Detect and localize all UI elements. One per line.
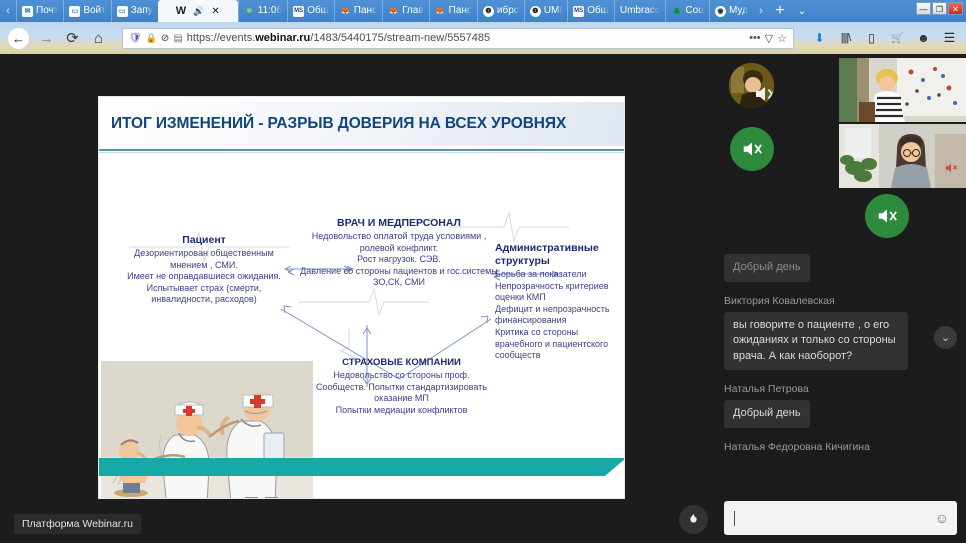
pocket-icon[interactable]: ▽ xyxy=(765,32,773,45)
lock-icon[interactable]: 🔒 xyxy=(146,33,157,44)
url-text: https://events.webinar.ru/1483/5440175/s… xyxy=(187,32,745,44)
page-actions-icon[interactable]: ••• xyxy=(749,32,761,44)
block-heading: Административные структуры xyxy=(495,242,625,267)
tab-ibrs[interactable]: ❶ ибрс xyxy=(477,0,524,22)
chat-message-1: Виктория Ковалевская вы говорите о пацие… xyxy=(715,295,966,384)
tree-icon: 🌲 xyxy=(671,6,682,17)
block-body: Борьба за показатели Непрозрачность крит… xyxy=(495,269,625,362)
tab-label: Umbraco xyxy=(620,0,661,22)
tab-zapusk[interactable]: ▭ Запу xyxy=(111,0,158,22)
video-icon: ▭ xyxy=(117,6,128,17)
firefox-icon: 🦊 xyxy=(435,6,446,17)
tab-mail[interactable]: ✉ Почт xyxy=(16,0,63,22)
slide-cartoon-image xyxy=(101,361,313,499)
tab-voyti[interactable]: ▭ Войт xyxy=(63,0,110,22)
tab-ms-1[interactable]: MS Общ xyxy=(287,0,334,22)
webinar-icon: W xyxy=(176,5,186,17)
back-button[interactable]: ← xyxy=(8,28,29,49)
slide-title-bar: ИТОГ ИЗМЕНЕНИЙ - РАЗРЫВ ДОВЕРИЯ НА ВСЕХ … xyxy=(99,102,625,146)
bookmark-star-icon[interactable]: ☆ xyxy=(777,32,787,45)
tab-umi[interactable]: ❶ UMI xyxy=(524,0,567,22)
block-heading: ВРАЧ И МЕДПЕРСОНАЛ xyxy=(299,217,499,229)
video-thumb-1[interactable] xyxy=(839,58,966,122)
chat-bubble: Добрый день xyxy=(724,254,810,282)
maximize-button[interactable]: ❐ xyxy=(932,2,947,15)
tab-label: Общ xyxy=(587,0,609,22)
chat-author: Наталья Петрова xyxy=(715,383,966,400)
slide-block-patient: Пациент Дезориентирован общественным мне… xyxy=(121,234,287,306)
smiley-icon[interactable]: ☺ xyxy=(935,510,949,526)
tab-label: ибрс xyxy=(497,0,519,22)
tab-label: Запу xyxy=(131,0,153,22)
browser-window: ‹ ✉ Почт ▭ Войт ▭ Запу W 🔊 ✕ ✾ 11:06 MS … xyxy=(0,0,966,543)
slide-block-insurance: СТРАХОВЫЕ КОМПАНИИ Недовольство со сторо… xyxy=(314,357,489,416)
chat-bubble: Добрый день xyxy=(724,400,810,428)
tab-pans-2[interactable]: 🦊 Панс xyxy=(429,0,477,22)
tab-label: Войт xyxy=(83,0,105,22)
tab-pans-1[interactable]: 🦊 Панс xyxy=(334,0,382,22)
tab-label: Муд xyxy=(729,0,748,22)
composer-author: Наталья Федоровна Кичигина xyxy=(715,441,966,456)
reload-button[interactable]: ⟳ xyxy=(64,29,81,47)
tab-label: UMI xyxy=(544,0,562,22)
mute-badge-2[interactable] xyxy=(865,194,909,238)
tab-webinar-active[interactable]: W 🔊 ✕ xyxy=(158,0,238,22)
block-heading: СТРАХОВЫЕ КОМПАНИИ xyxy=(314,357,489,368)
conference-rail: Добрый день Виктория Ковалевская вы гово… xyxy=(715,54,966,543)
tab-audio-icon[interactable]: 🔊 xyxy=(193,6,204,17)
chat-message-2: Наталья Петрова Добрый день xyxy=(715,383,966,441)
block-body: Недовольство оплатой труда условиями , р… xyxy=(299,231,499,289)
new-tab-button[interactable]: + xyxy=(769,0,791,22)
tab-label: Глав xyxy=(402,0,424,22)
list-all-tabs-button[interactable]: ⌄ xyxy=(791,0,813,22)
tab-label: Почт xyxy=(36,0,58,22)
tab-glav[interactable]: 🦊 Глав xyxy=(382,0,429,22)
ms-icon: MS xyxy=(293,6,304,17)
circle-icon: ❶ xyxy=(483,6,494,17)
webinar-page: ИТОГ ИЗМЕНЕНИЙ - РАЗРЫВ ДОВЕРИЯ НА ВСЕХ … xyxy=(0,54,966,543)
muted-speaker-icon xyxy=(751,80,774,108)
tab-mudl[interactable]: ◉ Муд xyxy=(709,0,753,22)
title-divider xyxy=(99,149,625,151)
close-icon[interactable]: ✕ xyxy=(211,6,219,17)
mail-icon: ✉ xyxy=(22,6,33,17)
ms-icon: MS xyxy=(573,6,584,17)
slide-block-admin: Административные структуры Борьба за пок… xyxy=(495,242,625,362)
scroll-tabs-right-button[interactable]: › xyxy=(753,0,769,22)
platform-watermark: Платформа Webinar.ru xyxy=(14,514,141,534)
block-heading: Пациент xyxy=(121,234,287,246)
tab-strip: ‹ ✉ Почт ▭ Войт ▭ Запу W 🔊 ✕ ✾ 11:06 MS … xyxy=(0,0,966,22)
window-controls: — ❐ ✕ xyxy=(916,0,966,22)
cart-icon[interactable]: 🛒 xyxy=(889,33,906,44)
url-prefix: https://events. xyxy=(187,32,255,44)
chat-message-0: Добрый день xyxy=(715,254,966,295)
menu-icon[interactable]: ☰ xyxy=(941,30,958,46)
video-icon: ▭ xyxy=(69,6,80,17)
mute-badge-1[interactable] xyxy=(730,127,774,171)
chat-input-container[interactable]: ☺ xyxy=(724,501,957,535)
url-domain: webinar.ru xyxy=(255,32,310,44)
tab-label: Соц xyxy=(685,0,704,22)
flame-icon[interactable] xyxy=(679,505,708,534)
chevron-down-icon[interactable]: ⌄ xyxy=(934,326,957,349)
sidebar-icon[interactable]: ▯ xyxy=(863,31,880,45)
presentation-slide[interactable]: ИТОГ ИЗМЕНЕНИЙ - РАЗРЫВ ДОВЕРИЯ НА ВСЕХ … xyxy=(98,96,625,499)
clover-icon: ✾ xyxy=(244,6,255,17)
firefox-icon: 🦊 xyxy=(388,6,399,17)
slide-title: ИТОГ ИЗМЕНЕНИЙ - РАЗРЫВ ДОВЕРИЯ НА ВСЕХ … xyxy=(99,115,566,133)
slide-bottom-accent xyxy=(99,458,625,476)
firefox-icon: 🦊 xyxy=(340,6,351,17)
tab-ms-2[interactable]: MS Общ xyxy=(567,0,614,22)
moodle-icon: ◉ xyxy=(715,6,726,17)
address-bar[interactable]: 🛡 🔒 ⊘ ▤ https://events.webinar.ru/1483/5… xyxy=(122,28,794,49)
navigation-toolbar: ← → ⟳ ⌂ 🛡 🔒 ⊘ ▤ https://events.webinar.r… xyxy=(0,22,966,54)
tab-label: Панс xyxy=(449,0,472,22)
library-icon[interactable]: ||||\ xyxy=(837,32,854,44)
circle-icon: ❶ xyxy=(530,6,541,17)
minimize-button[interactable]: — xyxy=(916,2,931,15)
chat-author: Виктория Ковалевская xyxy=(715,295,966,312)
reader-mode-icon[interactable]: ▤ xyxy=(173,33,182,44)
chat-panel: Добрый день Виктория Ковалевская вы гово… xyxy=(715,254,966,543)
block-body: Дезориентирован общественным мнением , С… xyxy=(121,248,287,306)
close-window-button[interactable]: ✕ xyxy=(948,2,963,15)
avatar[interactable] xyxy=(729,63,774,108)
home-icon[interactable]: ⌂ xyxy=(90,30,107,47)
block-body: Недовольство со стороны проф. Сообществ.… xyxy=(314,370,489,416)
muted-speaker-icon xyxy=(944,161,958,180)
tab-umbraco[interactable]: Umbraco xyxy=(614,0,666,22)
text-caret xyxy=(734,511,735,526)
video-thumb-2[interactable] xyxy=(839,124,966,188)
slide-block-doctor: ВРАЧ И МЕДПЕРСОНАЛ Недовольство оплатой … xyxy=(299,217,499,289)
tracking-protection-icon[interactable]: 🛡 xyxy=(129,33,142,44)
scroll-tabs-left-button[interactable]: ‹ xyxy=(0,0,16,22)
noscript-icon[interactable]: ⊘ xyxy=(161,33,169,44)
downloads-icon[interactable]: ⬇ xyxy=(811,31,828,45)
tab-label: 11:06 xyxy=(258,0,282,22)
title-divider-light xyxy=(99,152,625,153)
tab-label: Общ xyxy=(307,0,329,22)
url-path: /1483/5440175/stream-new/5557485 xyxy=(310,32,490,44)
account-icon[interactable]: ☻ xyxy=(915,31,932,45)
tab-soc[interactable]: 🌲 Соц xyxy=(665,0,709,22)
tab-label: Панс xyxy=(354,0,377,22)
tab-clover[interactable]: ✾ 11:06 xyxy=(238,0,287,22)
forward-button[interactable]: → xyxy=(38,30,55,47)
chat-bubble: вы говорите о пациенте , о его ожиданиях… xyxy=(724,312,908,371)
